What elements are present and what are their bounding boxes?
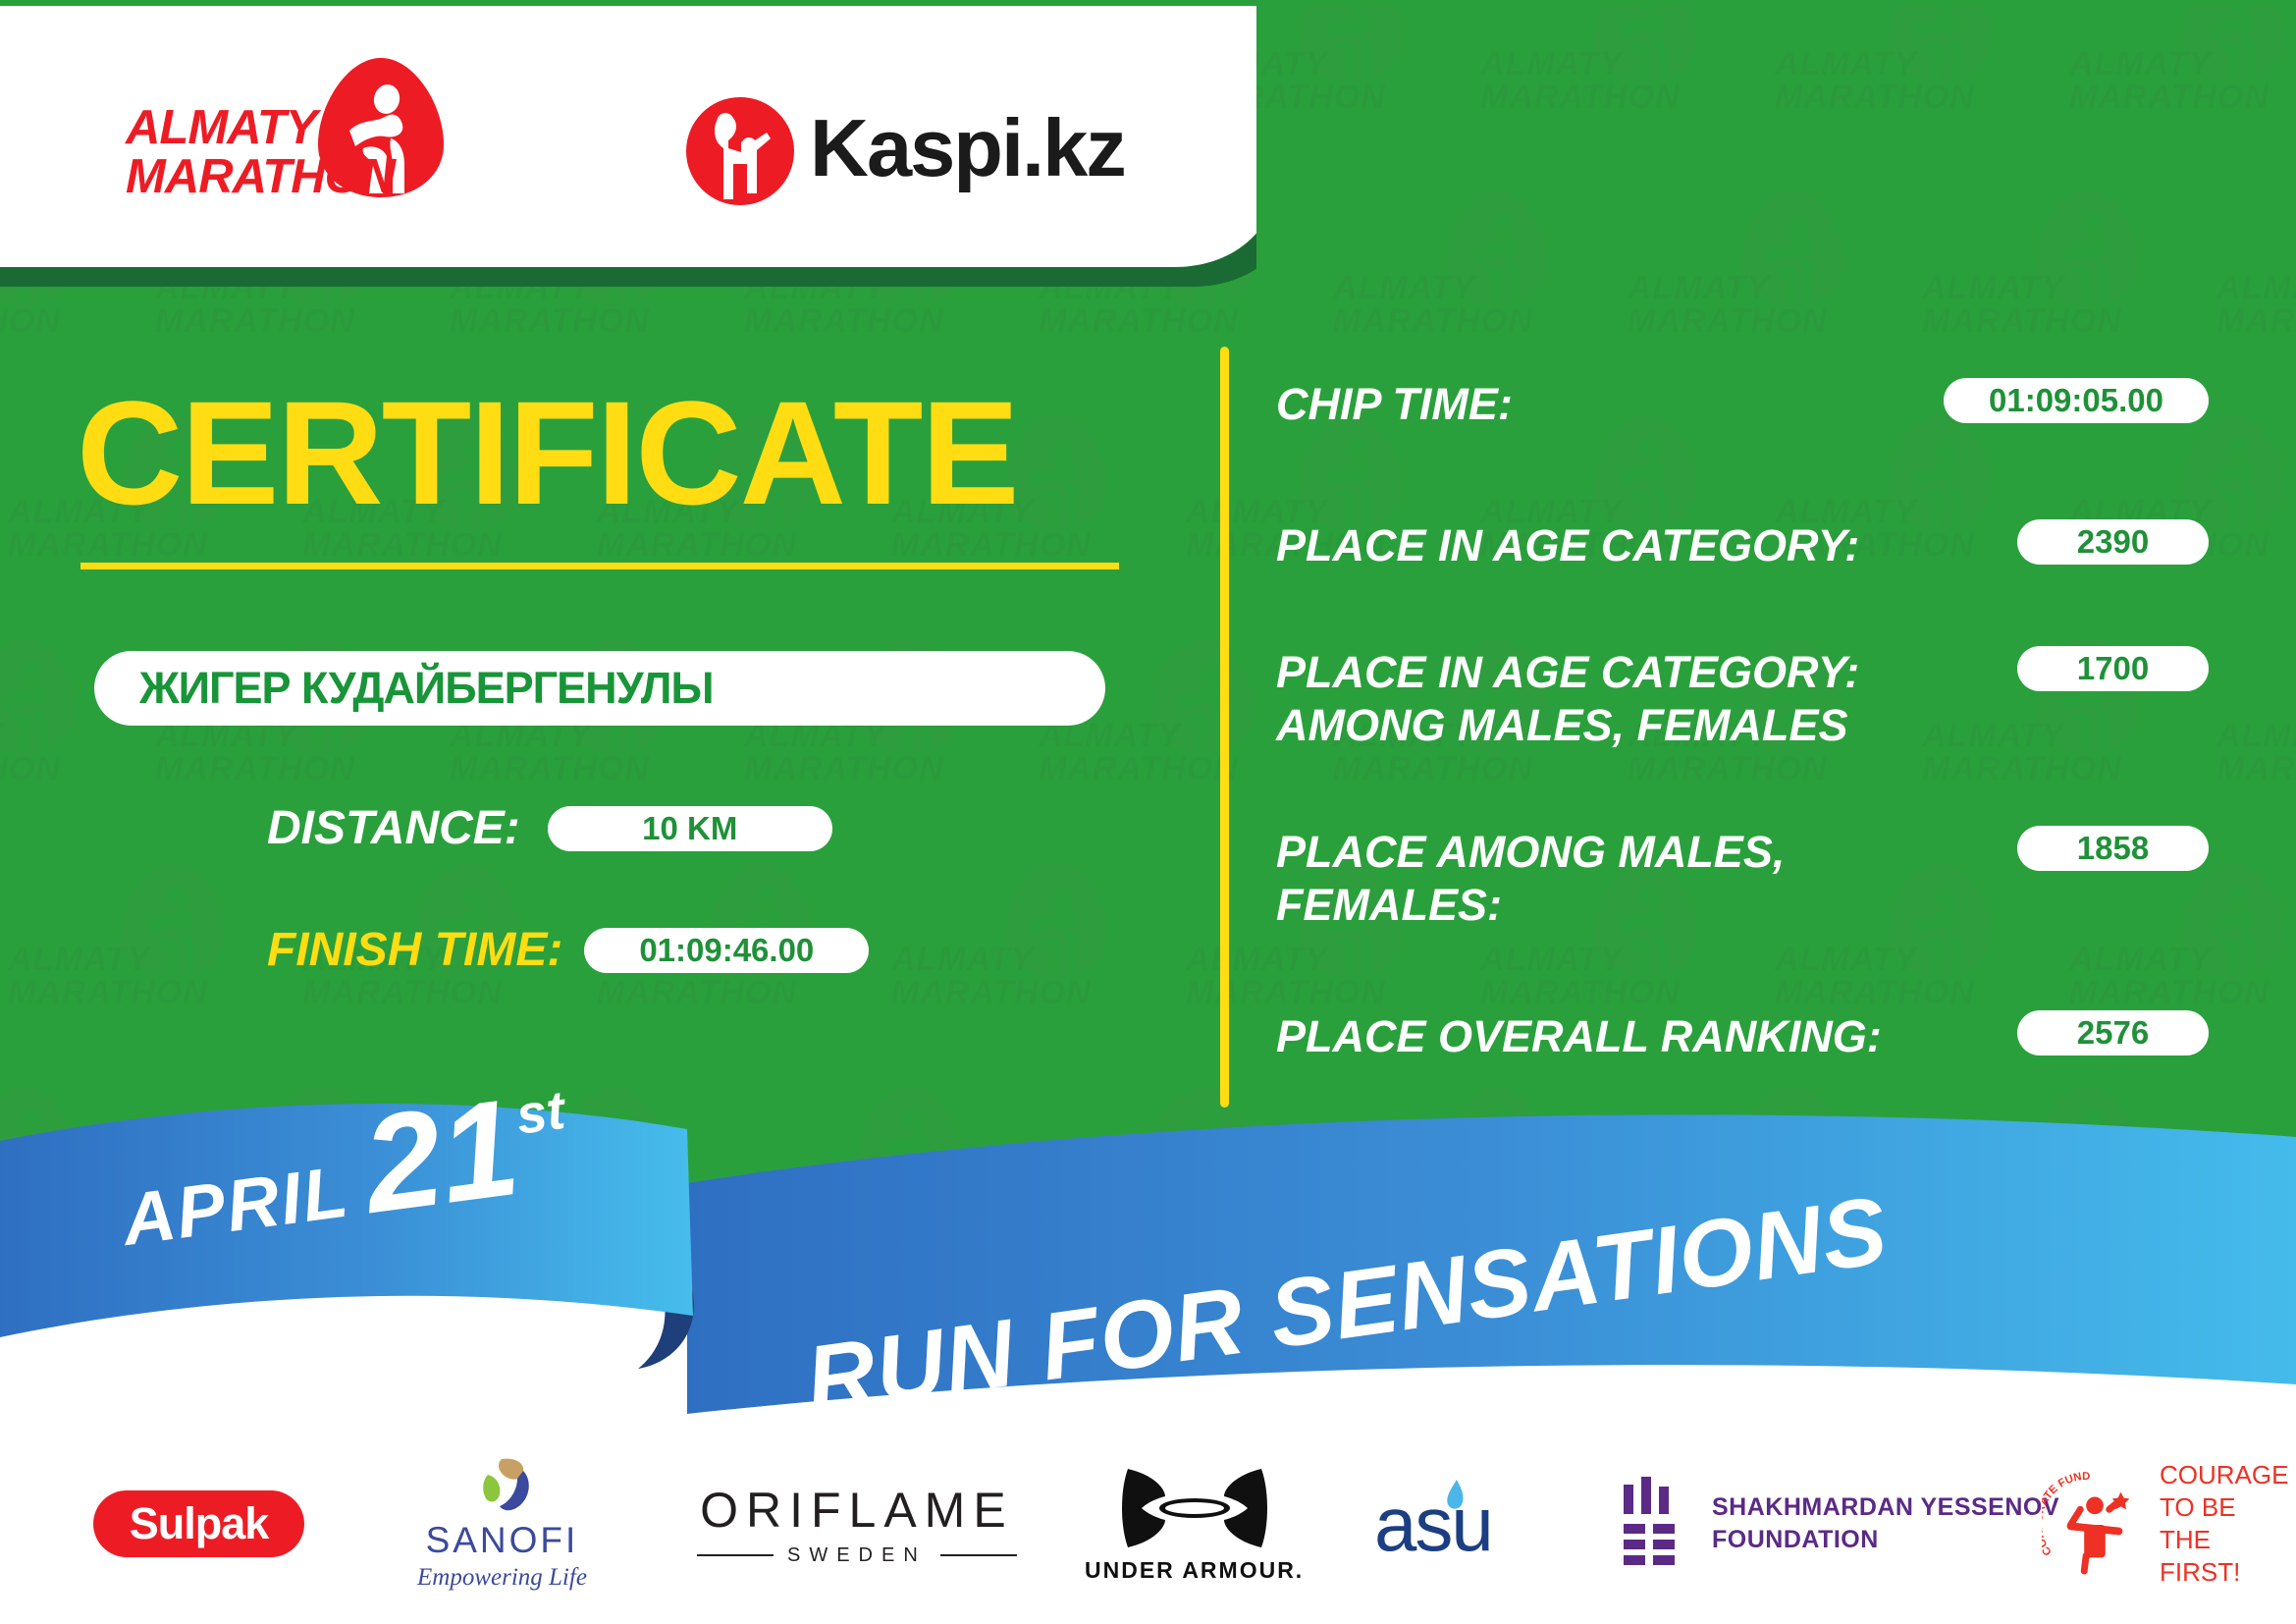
- watermark-tile: ALMATYMARATHON: [1767, 0, 2061, 182]
- svg-text:CORPORATE FUND: CORPORATE FUND: [2042, 1471, 2090, 1557]
- watermark-egg-icon: [0, 634, 80, 760]
- sponsor-logo-asu: asu: [1374, 1424, 1492, 1624]
- watermark-line1: ALMATY: [2216, 717, 2296, 755]
- watermark-tile: ALMATYMARATHON: [2209, 185, 2296, 406]
- watermark-egg-icon: [1001, 410, 1111, 536]
- yessenov-wordmark: SHAKHMARDAN YESSENOV FOUNDATION: [1712, 1491, 2059, 1556]
- watermark-line2: MARATHON: [8, 974, 208, 1012]
- watermark-egg-icon: [2179, 0, 2289, 88]
- distance-value-pill: 10 KM: [548, 806, 832, 851]
- oriflame-rule-right: [940, 1554, 1017, 1556]
- yessenov-line1: SHAKHMARDAN YESSENOV: [1712, 1491, 2059, 1524]
- watermark-line1: ALMATY: [1628, 269, 1770, 307]
- sanofi-bird-icon: [462, 1457, 541, 1516]
- watermark-tile: ALMATYMARATHON: [0, 856, 294, 1077]
- courage-line2: TO BE: [2160, 1491, 2296, 1524]
- sponsor-logo-oriflame: ORIFLAME SWEDEN: [697, 1424, 1017, 1624]
- watermark-line2: MARATHON: [1775, 79, 1975, 117]
- almaty-logo-line2: MARATHON: [126, 152, 400, 201]
- page-title: CERTIFICATE: [77, 379, 1018, 526]
- finish-time-value: 01:09:46.00: [639, 932, 814, 969]
- watermark-line2: MARATHON: [0, 302, 61, 341]
- vertical-yellow-divider: [1220, 347, 1229, 1108]
- watermark-tile: ALMATYMARATHON: [883, 856, 1178, 1077]
- sulpak-badge: Sulpak: [93, 1490, 304, 1557]
- watermark-line1: ALMATY: [1775, 45, 1917, 83]
- stat-label: PLACE OVERALL RANKING:: [1276, 1010, 1882, 1063]
- watermark-egg-icon: [118, 858, 228, 984]
- watermark-tile: ALMATYMARATHON: [1472, 0, 1767, 182]
- sulpak-wordmark: Sulpak: [130, 1498, 269, 1549]
- watermark-line2: MARATHON: [0, 750, 61, 788]
- watermark-line2: MARATHON: [2216, 750, 2296, 788]
- watermark-line2: MARATHON: [1039, 302, 1239, 341]
- yessenov-line2: FOUNDATION: [1712, 1524, 2059, 1556]
- stat-row-place-overall-ranking: PLACE OVERALL RANKING: 2576: [1276, 1010, 2209, 1063]
- watermark-egg-icon: [1737, 187, 1847, 312]
- event-day-ordinal: st: [512, 1078, 568, 1147]
- stat-row-place-in-age-category-among-males-females: PLACE IN AGE CATEGORY: AMONG MALES, FEMA…: [1276, 646, 2209, 752]
- distance-row: DISTANCE: 10 KM: [267, 801, 832, 855]
- watermark-tile: ALMATYMARATHON: [2209, 632, 2296, 853]
- watermark-line2: MARATHON: [744, 750, 944, 788]
- distance-value: 10 KM: [642, 810, 737, 847]
- stat-row-chip-time: CHIP TIME: 01:09:05.00: [1276, 378, 2209, 431]
- watermark-tile: ALMATYMARATHON: [1325, 185, 1620, 406]
- stat-row-place-in-age-category: PLACE IN AGE CATEGORY: 2390: [1276, 519, 2209, 572]
- watermark-line1: ALMATY: [8, 941, 150, 979]
- watermark-line2: MARATHON: [450, 302, 650, 341]
- title-underline-rule: [80, 563, 1119, 569]
- header-logo-bar: ALMATY MARATHON Kaspi.kz: [0, 0, 1256, 285]
- courage-runner-icon: CORPORATE FUND: [2042, 1470, 2148, 1578]
- courage-line3: THE FIRST!: [2160, 1524, 2296, 1589]
- participant-name-field: ЖИГЕР КУДАЙБЕРГЕНУЛЫ: [94, 651, 1105, 726]
- stat-value-pill: 01:09:05.00: [1944, 378, 2209, 423]
- watermark-egg-icon: [1296, 0, 1406, 88]
- sponsor-logo-under-armour: UNDER ARMOUR.: [1085, 1424, 1304, 1624]
- distance-label: DISTANCE:: [267, 801, 520, 855]
- watermark-egg-icon: [1443, 187, 1553, 312]
- stat-value-pill: 2390: [2017, 519, 2209, 565]
- watermark-line2: MARATHON: [155, 302, 355, 341]
- courage-line1: COURAGE: [2160, 1459, 2296, 1491]
- watermark-line1: ALMATY: [2069, 45, 2212, 83]
- watermark-egg-icon: [2032, 187, 2142, 312]
- watermark-line2: MARATHON: [1039, 750, 1239, 788]
- stat-value: 2576: [2077, 1014, 2149, 1052]
- almaty-marathon-wordmark: ALMATY MARATHON: [126, 103, 400, 201]
- watermark-egg-icon: [1001, 858, 1111, 984]
- watermark-egg-icon: [1590, 0, 1700, 88]
- kaspi-logo: Kaspi.kz: [682, 93, 1075, 211]
- watermark-egg-icon: [1885, 0, 1995, 88]
- watermark-egg-icon: [1148, 634, 1258, 760]
- under-armour-icon: [1116, 1465, 1273, 1551]
- watermark-line2: MARATHON: [155, 750, 355, 788]
- sanofi-tagline: Empowering Life: [417, 1564, 587, 1592]
- watermark-line2: MARATHON: [1628, 302, 1828, 341]
- participant-name-value: ЖИГЕР КУДАЙБЕРГЕНУЛЫ: [139, 663, 714, 714]
- courage-wordmark: COURAGE TO BE THE FIRST!: [2160, 1459, 2296, 1589]
- finish-time-label: FINISH TIME:: [267, 923, 562, 977]
- stat-value: 1858: [2077, 830, 2149, 867]
- watermark-line1: ALMATY: [0, 717, 3, 755]
- oriflame-subtext: SWEDEN: [787, 1544, 927, 1567]
- watermark-line2: MARATHON: [2216, 302, 2296, 341]
- watermark-line1: ALMATY: [2216, 269, 2296, 307]
- watermark-tile: ALMATYMARATHON: [1914, 185, 2209, 406]
- watermark-tile: ALMATYMARATHON: [1620, 185, 1914, 406]
- stat-value: 2390: [2077, 523, 2149, 561]
- sponsor-logo-sulpak: Sulpak: [93, 1424, 304, 1624]
- sponsor-logo-courage-fund: CORPORATE FUND COURAGE TO BE THE FIRST!: [2042, 1424, 2296, 1624]
- watermark-line2: MARATHON: [1333, 302, 1533, 341]
- watermark-line1: ALMATY: [1333, 269, 1475, 307]
- watermark-line1: ALMATY: [1922, 269, 2064, 307]
- stat-value: 01:09:05.00: [1989, 382, 2163, 419]
- stat-value-pill: 1858: [2017, 826, 2209, 871]
- stat-label: PLACE IN AGE CATEGORY:: [1276, 519, 1859, 572]
- watermark-line1: ALMATY: [891, 941, 1034, 979]
- watermark-line2: MARATHON: [1480, 79, 1681, 117]
- watermark-line2: MARATHON: [744, 302, 944, 341]
- results-stats-list: CHIP TIME: 01:09:05.00 PLACE IN AGE CATE…: [1276, 378, 2209, 1063]
- watermark-line2: MARATHON: [891, 974, 1092, 1012]
- asu-wordmark: asu: [1374, 1485, 1492, 1563]
- watermark-line1: ALMATY: [1480, 45, 1623, 83]
- stat-row-place-among-males-females: PLACE AMONG MALES, FEMALES: 1858: [1276, 826, 2209, 932]
- watermark-line2: MARATHON: [597, 974, 797, 1012]
- kaspi-family-circle-icon: [682, 93, 798, 209]
- stat-label: CHIP TIME:: [1276, 378, 1513, 431]
- stat-value-pill: 2576: [2017, 1010, 2209, 1056]
- kaspi-wordmark: Kaspi.kz: [810, 107, 1125, 189]
- oriflame-sub: SWEDEN: [697, 1544, 1017, 1567]
- almaty-logo-line1: ALMATY: [126, 103, 400, 152]
- sanofi-wordmark: SANOFI: [426, 1520, 579, 1561]
- oriflame-wordmark: ORIFLAME: [700, 1482, 1014, 1539]
- watermark-line2: MARATHON: [450, 750, 650, 788]
- asu-droplet-icon: [1443, 1479, 1467, 1512]
- watermark-tile: ALMATYMARATHON: [2061, 0, 2296, 182]
- sponsor-bar: Sulpak SANOFI Empowering Life ORIFLAME S…: [0, 1424, 2296, 1624]
- oriflame-rule-left: [697, 1554, 774, 1556]
- stat-value: 1700: [2077, 650, 2149, 687]
- sponsor-logo-sanofi: SANOFI Empowering Life: [417, 1424, 587, 1624]
- under-armour-wordmark: UNDER ARMOUR.: [1085, 1557, 1304, 1584]
- stat-value-pill: 1700: [2017, 646, 2209, 691]
- event-day: 21: [358, 1093, 524, 1219]
- watermark-line2: MARATHON: [302, 974, 503, 1012]
- almaty-marathon-logo: ALMATY MARATHON: [126, 54, 450, 211]
- stat-label: PLACE AMONG MALES, FEMALES:: [1276, 826, 1963, 932]
- watermark-line2: MARATHON: [2069, 79, 2269, 117]
- finish-time-row: FINISH TIME: 01:09:46.00: [267, 923, 869, 977]
- watermark-line2: MARATHON: [1922, 302, 2122, 341]
- stat-label: PLACE IN AGE CATEGORY: AMONG MALES, FEMA…: [1276, 646, 1963, 752]
- finish-time-value-pill: 01:09:46.00: [584, 928, 869, 973]
- sponsor-logo-yessenov-foundation: SHAKHMARDAN YESSENOV FOUNDATION: [1620, 1424, 2059, 1624]
- yessenov-bars-icon: [1620, 1477, 1686, 1571]
